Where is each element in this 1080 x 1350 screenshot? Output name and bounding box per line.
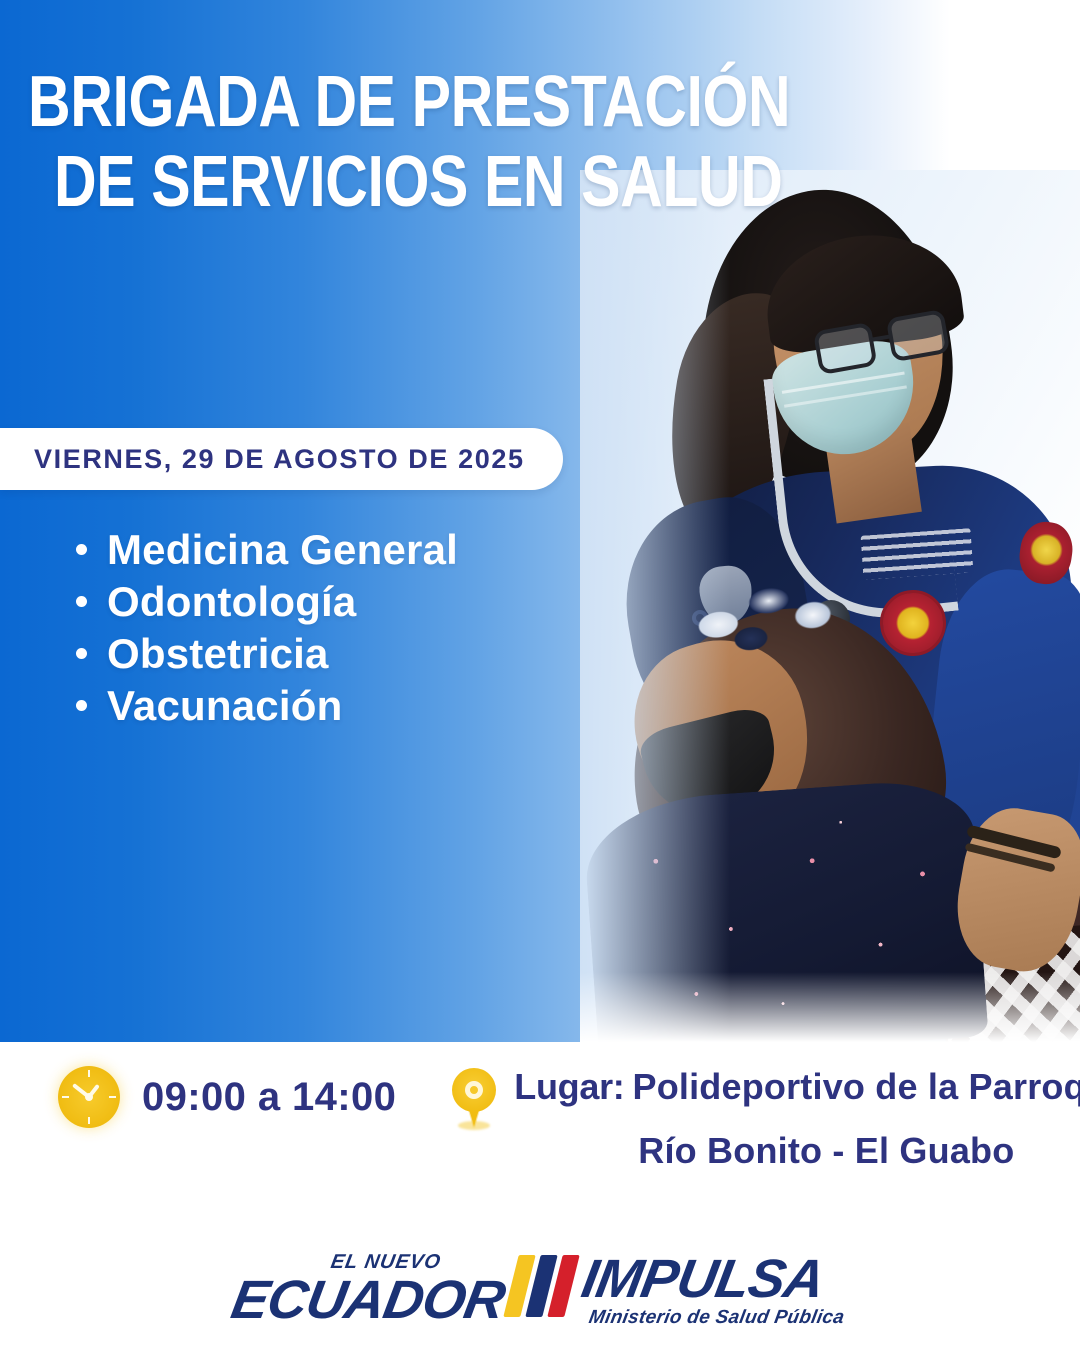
service-label: Vacunación xyxy=(107,680,342,732)
event-details-row: 09:00 a 14:00 Lugar:Polideportivo de la … xyxy=(0,1066,1080,1172)
location-venue-line-2: Río Bonito - El Guabo xyxy=(514,1130,1080,1172)
schedule-block: 09:00 a 14:00 xyxy=(58,1066,396,1128)
headline-line-1: BRIGADA DE PRESTACIÓN xyxy=(28,62,790,142)
bullet-icon xyxy=(76,700,87,711)
bullet-icon xyxy=(76,596,87,607)
service-label: Medicina General xyxy=(107,524,458,576)
service-label: Obstetricia xyxy=(107,628,329,680)
list-item: Obstetricia xyxy=(76,628,458,680)
headline-line-2: DE SERVICIOS EN SALUD xyxy=(54,142,795,222)
list-item: Vacunación xyxy=(76,680,458,732)
logo-ministry-label: Ministerio de Salud Pública xyxy=(588,1308,847,1328)
location-text: Lugar:Polideportivo de la Parroquia Río … xyxy=(514,1066,1080,1172)
uniform-name-tag xyxy=(861,528,974,580)
photo-bottom-fade xyxy=(580,972,1080,1042)
bullet-icon xyxy=(76,648,87,659)
event-photo xyxy=(580,170,1080,1042)
location-pin-icon xyxy=(452,1068,496,1130)
poster-headline: BRIGADA DE PRESTACIÓN DE SERVICIOS EN SA… xyxy=(28,62,958,222)
services-list: Medicina General Odontología Obstetricia… xyxy=(76,524,458,732)
hero-panel: BRIGADA DE PRESTACIÓN DE SERVICIOS EN SA… xyxy=(0,0,1080,1042)
schedule-time-text: 09:00 a 14:00 xyxy=(142,1075,396,1120)
logo-tagline: EL NUEVO xyxy=(330,1252,443,1272)
logo-impulsa-group: IMPULSA Ministerio de Salud Pública xyxy=(585,1252,844,1328)
logo-word-ecuador: ECUADOR xyxy=(228,1272,509,1328)
location-block: Lugar:Polideportivo de la Parroquia Río … xyxy=(452,1066,1080,1172)
location-label: Lugar: xyxy=(514,1066,624,1107)
service-label: Odontología xyxy=(107,576,356,628)
ecuador-flag-icon xyxy=(511,1255,577,1317)
clock-icon xyxy=(58,1066,120,1128)
location-venue-line-1: Polideportivo de la Parroquia xyxy=(633,1066,1080,1107)
list-item: Odontología xyxy=(76,576,458,628)
event-date-banner: VIERNES, 29 DE AGOSTO DE 2025 xyxy=(0,428,563,490)
photo-left-fade xyxy=(580,170,730,1042)
logo-ecuador-group: EL NUEVO ECUADOR xyxy=(235,1252,501,1328)
event-date-text: VIERNES, 29 DE AGOSTO DE 2025 xyxy=(34,444,525,475)
logo-word-impulsa: IMPULSA xyxy=(578,1252,828,1306)
location-line-1: Lugar:Polideportivo de la Parroquia xyxy=(514,1066,1080,1108)
bullet-icon xyxy=(76,544,87,555)
footer-band: 09:00 a 14:00 Lugar:Polideportivo de la … xyxy=(0,1042,1080,1350)
government-logo: EL NUEVO ECUADOR IMPULSA Ministerio de S… xyxy=(0,1248,1080,1332)
list-item: Medicina General xyxy=(76,524,458,576)
